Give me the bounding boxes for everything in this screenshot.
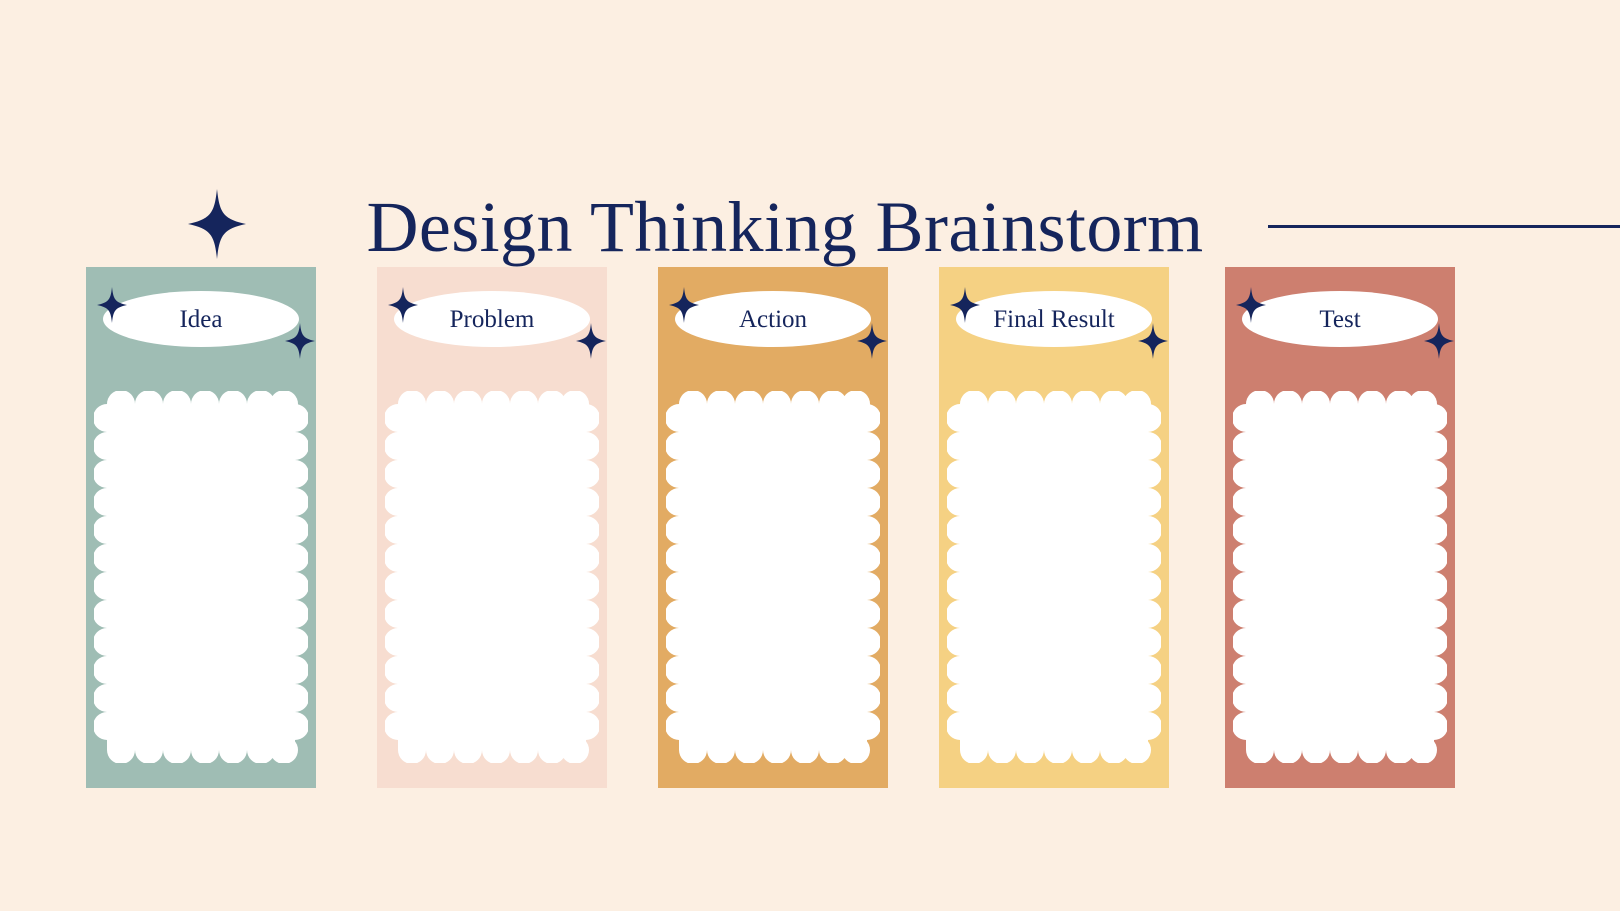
brainstorm-column-test[interactable]: Test [1225,267,1455,788]
column-label-pill: Idea [103,291,299,347]
scalloped-note-area[interactable] [947,391,1161,763]
brainstorm-columns: Idea [0,267,1620,788]
sparkle-star-icon [1138,323,1168,359]
sparkle-star-icon [97,287,127,323]
column-label-text: Final Result [993,307,1115,332]
slide-header: Design Thinking Brainstorm [0,86,1620,196]
sparkle-star-icon [285,323,315,359]
scalloped-note-area[interactable] [666,391,880,763]
scalloped-note-area[interactable] [1233,391,1447,763]
sparkle-star-icon [576,323,606,359]
column-label-text: Action [739,307,807,332]
column-label-pill: Action [675,291,871,347]
column-label-text: Problem [450,307,535,332]
column-label-pill: Problem [394,291,590,347]
sparkle-star-icon [188,189,246,259]
column-label-text: Test [1319,307,1360,332]
scalloped-note-area[interactable] [94,391,308,763]
sparkle-star-icon [1424,323,1454,359]
column-label-pill: Final Result [956,291,1152,347]
slide-canvas: Design Thinking Brainstorm Idea [0,0,1620,911]
sparkle-star-icon [388,287,418,323]
column-label-text: Idea [179,307,222,332]
brainstorm-column-final-result[interactable]: Final Result [939,267,1169,788]
brainstorm-column-action[interactable]: Action [658,267,888,788]
scalloped-note-area[interactable] [385,391,599,763]
brainstorm-column-idea[interactable]: Idea [86,267,316,788]
sparkle-star-icon [857,323,887,359]
column-label-pill: Test [1242,291,1438,347]
page-title: Design Thinking Brainstorm [330,172,1240,282]
brainstorm-column-problem[interactable]: Problem [377,267,607,788]
header-divider-rule [1268,225,1620,228]
sparkle-star-icon [1236,287,1266,323]
sparkle-star-icon [669,287,699,323]
sparkle-star-icon [950,287,980,323]
